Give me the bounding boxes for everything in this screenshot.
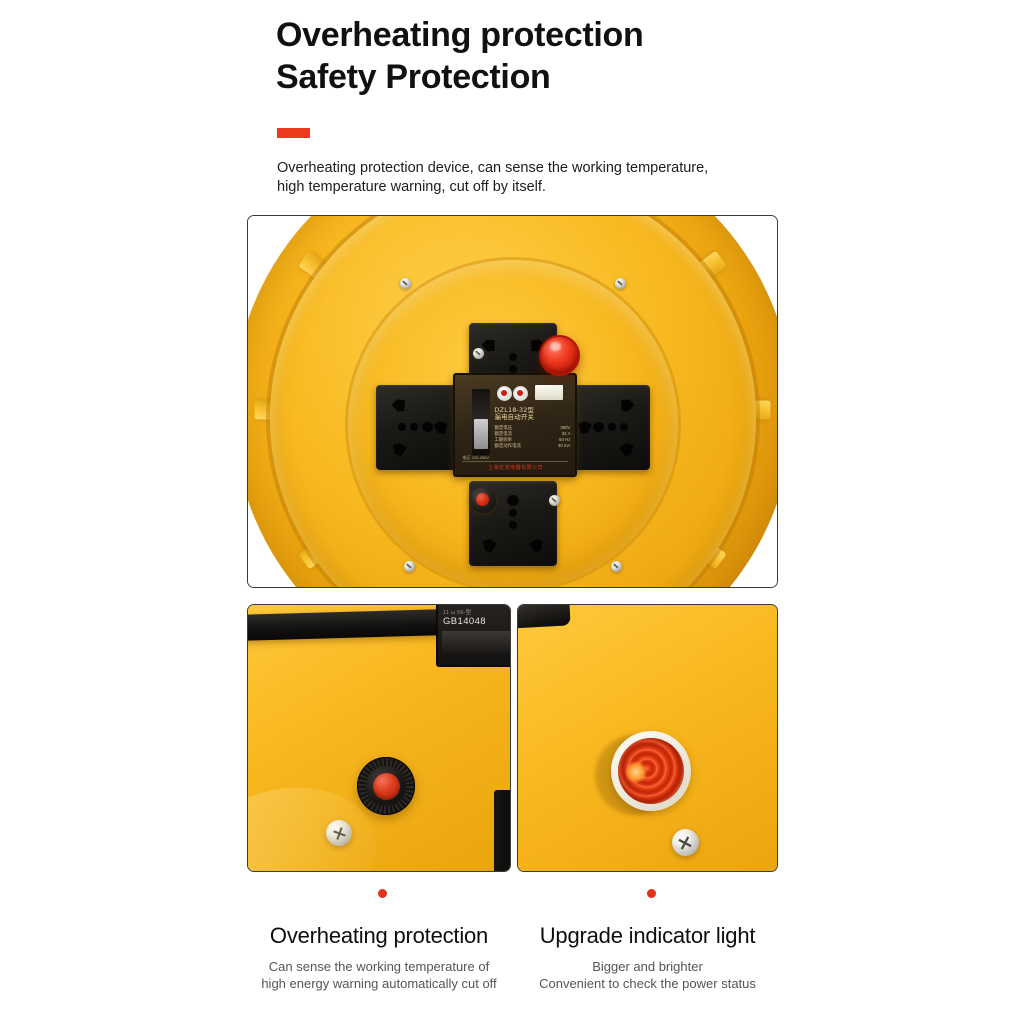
breaker-spec-list: 额定电压 380V 额定电流 32 A 工额频率 50 Hz [495,425,571,449]
caption-text: Bigger and brighter Convenient to check … [517,958,778,992]
breaker-name-plate [535,385,563,400]
indicator-light-photo [517,604,778,872]
breaker-subtitle: 漏电自动开关 [495,414,573,422]
socket-slot [578,421,592,434]
socket-slot [390,397,407,413]
reel-drum-face: DZL18-32型 漏电自动开关 额定电压 380V 额定电流 [348,260,678,589]
power-socket-left[interactable] [376,385,464,470]
caption-marker-dot [378,889,387,898]
socket-slot [608,423,616,431]
face-screw [549,495,560,506]
caption-title: Overheating protection [247,923,511,949]
indicator-lamp-image [518,605,777,871]
reel-drum-outer: DZL18-32型 漏电自动开关 额定电压 380V 额定电流 [247,215,778,588]
socket-slot [422,422,433,432]
title-line-1: Overheating protection [276,16,643,54]
black-edge-piece [494,790,511,872]
caption-text-line-1: Can sense the working temperature of [269,959,489,974]
cable-reel-image: DZL18-32型 漏电自动开关 额定电压 380V 额定电流 [248,216,777,587]
description-line-1: Overheating protection device, can sense… [277,160,708,176]
caption-text: Can sense the working temperature of hig… [247,958,511,992]
breaker-divider [462,461,568,462]
face-screw [404,561,415,572]
caption-upgrade-indicator-light: Upgrade indicator light Bigger and brigh… [517,923,778,992]
standard-label: 11 ω 56-型 GB14048 [436,604,511,667]
lamp-glow [625,761,647,783]
reset-button[interactable] [470,487,496,513]
spec-value: 30 mA [558,443,571,449]
socket-slot [434,421,448,434]
socket-slot [480,537,497,553]
socket-slot [509,365,517,373]
face-screw [615,278,626,289]
socket-slot [509,521,517,529]
breaker-indicator-right [513,386,528,401]
socket-slot [509,353,517,361]
product-feature-page: Overheating protection Safety Protection… [0,0,1024,1024]
breaker-toggle-switch[interactable] [472,389,490,455]
standard-label-bar [442,631,511,653]
caption-marker-dot [647,889,656,898]
standard-label-line-1: 11 ω 56-型 [443,608,471,616]
breaker-tiny-label: 电压 220-250V [463,455,489,460]
socket-slot [509,509,517,517]
power-indicator-lamp [605,731,691,817]
thermal-reset-knob[interactable] [357,757,415,815]
caption-text-line-2: Convenient to check the power status [517,975,778,992]
socket-slot [410,423,418,431]
reel-drum-rim: DZL18-32型 漏电自动开关 额定电压 380V 额定电流 [270,215,756,588]
title-line-2: Safety Protection [276,56,916,98]
breaker-manufacturer: 上海宏发电器有限公司 [463,464,569,471]
page-description: Overheating protection device, can sense… [277,159,747,197]
breaker-spec-row: 额定动作电流 30 mA [495,443,571,449]
caption-overheating-protection: Overheating protection Can sense the wor… [247,923,511,992]
standard-label-line-2: GB14048 [443,616,486,627]
page-title: Overheating protection Safety Protection [276,14,916,98]
socket-slot [528,537,545,553]
face-screw [473,348,484,359]
circuit-breaker-module[interactable]: DZL18-32型 漏电自动开关 额定电压 380V 额定电流 [453,373,577,477]
socket-slot [593,422,604,432]
breaker-indicator-left [497,386,512,401]
face-screw [400,278,411,289]
main-product-photo: DZL18-32型 漏电自动开关 额定电压 380V 额定电流 [247,215,778,588]
panel-screw [672,829,699,856]
socket-slot [620,423,628,431]
reset-knob-image: 11 ω 56-型 GB14048 [248,605,510,871]
caption-title: Upgrade indicator light [517,923,778,949]
accent-divider [277,128,310,138]
socket-slot [618,397,635,413]
breaker-model-text: DZL18-32型 漏电自动开关 [495,407,573,422]
emergency-stop-button[interactable] [539,335,580,376]
description-line-2: high temperature warning, cut off by its… [277,178,747,197]
black-corner-piece [517,604,571,629]
overheating-protection-photo: 11 ω 56-型 GB14048 [247,604,511,872]
socket-slot [390,441,407,457]
spec-label: 额定动作电流 [495,443,521,449]
socket-slot [618,441,635,457]
face-screw [611,561,622,572]
caption-text-line-2: high energy warning automatically cut of… [247,975,511,992]
caption-text-line-1: Bigger and brighter [592,959,703,974]
socket-slot [507,495,519,506]
socket-slot [398,423,406,431]
